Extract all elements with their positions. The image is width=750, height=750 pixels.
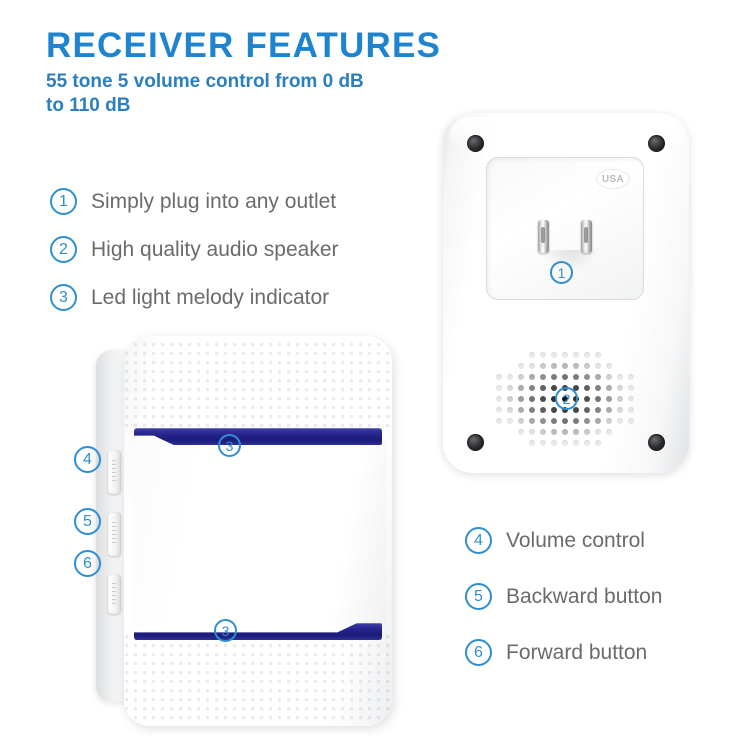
feature-list-top: 1 Simply plug into any outlet 2 High qua… <box>50 188 339 332</box>
speaker-grille-dot <box>551 429 557 435</box>
screw-hole-bottom-left <box>467 434 484 451</box>
speaker-grille-dot <box>540 440 546 446</box>
speaker-grille-dot <box>507 396 513 402</box>
speaker-grille-dot <box>507 418 513 424</box>
speaker-grille-dot <box>496 407 502 413</box>
speaker-grille-dot <box>518 407 524 413</box>
speaker-grille-dot <box>518 385 524 391</box>
feature-item-5: 5 Backward button <box>465 583 662 610</box>
speaker-grille-dot <box>518 396 524 402</box>
feature-item-6: 6 Forward button <box>465 639 662 666</box>
speaker-grille-dot <box>628 407 634 413</box>
speaker-grille-dot <box>562 352 568 358</box>
speaker-grille-dot <box>540 352 546 358</box>
speaker-grille-dot <box>540 429 546 435</box>
speaker-grille-dot <box>584 385 590 391</box>
speaker-grille-dot <box>529 385 535 391</box>
speaker-grille-dot <box>573 429 579 435</box>
led-light-bar-top <box>134 428 382 445</box>
speaker-grille-dot <box>595 396 601 402</box>
speaker-grille-dot <box>551 352 557 358</box>
speaker-grille-dot <box>518 418 524 424</box>
speaker-grille-dot <box>606 396 612 402</box>
speaker-grille-dot <box>573 363 579 369</box>
volume-control-button <box>108 450 121 494</box>
feature-item-4: 4 Volume control <box>465 527 662 554</box>
speaker-grille-dot <box>606 374 612 380</box>
feature-item-2: 2 High quality audio speaker <box>50 236 339 263</box>
speaker-grille-dot <box>573 352 579 358</box>
plug-in-receiver-photo: USA 1 2 <box>443 113 689 473</box>
speaker-grille-dot <box>595 363 601 369</box>
feature-item-3: 3 Led light melody indicator <box>50 284 339 311</box>
marker-number-4: 4 <box>465 527 492 554</box>
callout-marker-3-led-bottom: 3 <box>214 619 237 642</box>
speaker-grille-dot <box>606 418 612 424</box>
speaker-grille-dot <box>606 429 612 435</box>
speaker-grille-dot <box>562 429 568 435</box>
feature-label-1: Simply plug into any outlet <box>91 190 336 214</box>
speaker-grille-dot <box>496 385 502 391</box>
speaker-grille-dot <box>529 396 535 402</box>
feature-label-3: Led light melody indicator <box>91 286 329 310</box>
speaker-grille-dot <box>573 440 579 446</box>
speaker-grille: 2 <box>492 349 640 447</box>
speaker-grille-dot <box>595 407 601 413</box>
speaker-grille-dot <box>540 396 546 402</box>
callout-marker-5-backward: 5 <box>74 508 101 535</box>
speaker-grille-dot <box>617 385 623 391</box>
speaker-grille-dot <box>551 385 557 391</box>
speaker-grille-dot <box>595 440 601 446</box>
speaker-grille-dot <box>496 418 502 424</box>
speaker-grille-dot <box>518 374 524 380</box>
feature-label-6: Forward button <box>506 641 647 665</box>
speaker-grille-dot <box>507 374 513 380</box>
speaker-grille-dot <box>584 363 590 369</box>
speaker-grille-dot <box>562 363 568 369</box>
backward-button <box>108 512 121 556</box>
feature-label-5: Backward button <box>506 585 662 609</box>
speaker-grille-dot <box>584 440 590 446</box>
product-feature-infographic: RECEIVER FEATURES 55 tone 5 volume contr… <box>0 0 750 750</box>
marker-number-6: 6 <box>465 639 492 666</box>
marker-number-1: 1 <box>50 188 77 215</box>
speaker-grille-dot <box>551 374 557 380</box>
speaker-grille-dot <box>562 440 568 446</box>
speaker-grille-dot <box>584 407 590 413</box>
forward-button <box>108 574 121 614</box>
speaker-grille-dot <box>628 418 634 424</box>
callout-marker-6-forward: 6 <box>74 550 101 577</box>
speaker-grille-dot <box>496 374 502 380</box>
screw-hole-top-right <box>648 135 665 152</box>
feature-list-bottom: 4 Volume control 5 Backward button 6 For… <box>465 527 662 695</box>
screw-hole-top-left <box>467 135 484 152</box>
speaker-grille-dot <box>606 407 612 413</box>
speaker-grille-dot <box>628 374 634 380</box>
speaker-grille-dot <box>518 363 524 369</box>
speaker-grille-dot <box>595 418 601 424</box>
speaker-grille-dot <box>507 407 513 413</box>
speaker-grille-dot <box>496 396 502 402</box>
speaker-grille-dot <box>628 396 634 402</box>
speaker-grille-dot <box>551 407 557 413</box>
speaker-grille-dot <box>540 407 546 413</box>
speaker-grille-dot <box>529 440 535 446</box>
screw-hole-bottom-right <box>648 434 665 451</box>
callout-marker-2-speaker: 2 <box>555 387 578 410</box>
speaker-grille-dot <box>529 374 535 380</box>
speaker-grille-dot <box>595 385 601 391</box>
usa-badge: USA <box>596 169 630 189</box>
plug-prong-right <box>581 220 592 253</box>
callout-marker-3-led-top: 3 <box>218 434 241 457</box>
speaker-grille-dot <box>562 374 568 380</box>
callout-marker-4-volume: 4 <box>74 446 101 473</box>
feature-item-1: 1 Simply plug into any outlet <box>50 188 339 215</box>
callout-marker-1-plug: 1 <box>550 261 573 284</box>
speaker-grille-dot <box>617 407 623 413</box>
speaker-grille-dot <box>540 385 546 391</box>
speaker-grille-dot <box>595 352 601 358</box>
speaker-grille-dot <box>529 407 535 413</box>
speaker-grille-dot <box>540 418 546 424</box>
plug-prong-left <box>538 220 549 253</box>
perforation-texture-top <box>124 342 392 430</box>
speaker-grille-dot <box>617 374 623 380</box>
speaker-grille-dot <box>628 385 634 391</box>
feature-label-2: High quality audio speaker <box>91 238 339 262</box>
speaker-grille-dot <box>507 385 513 391</box>
speaker-grille-dot <box>573 418 579 424</box>
speaker-grille-dot <box>573 407 579 413</box>
chime-front-face <box>124 336 392 726</box>
speaker-grille-dot <box>551 440 557 446</box>
speaker-grille-dot <box>606 385 612 391</box>
speaker-grille-dot <box>617 418 623 424</box>
plug-face-panel: USA 1 <box>486 157 644 300</box>
chime-unit-photo: 3 3 <box>96 336 396 726</box>
speaker-grille-dot <box>617 396 623 402</box>
speaker-grille-dot <box>584 429 590 435</box>
speaker-grille-dot <box>562 418 568 424</box>
speaker-grille-dot <box>551 418 557 424</box>
speaker-grille-dot <box>518 429 524 435</box>
marker-number-2: 2 <box>50 236 77 263</box>
speaker-grille-dot <box>595 374 601 380</box>
marker-number-5: 5 <box>465 583 492 610</box>
speaker-grille-dot <box>595 429 601 435</box>
speaker-grille-dot <box>584 396 590 402</box>
feature-label-4: Volume control <box>506 529 645 553</box>
speaker-grille-dot <box>540 374 546 380</box>
speaker-grille-dot <box>540 363 546 369</box>
speaker-grille-dot <box>529 429 535 435</box>
speaker-grille-dot <box>529 418 535 424</box>
perforation-texture-bottom <box>124 634 392 722</box>
page-subtitle: 55 tone 5 volume control from 0 dB to 11… <box>46 70 386 119</box>
speaker-grille-dot <box>584 352 590 358</box>
speaker-grille-dot <box>584 418 590 424</box>
speaker-grille-dot <box>529 352 535 358</box>
speaker-grille-dot <box>584 374 590 380</box>
marker-number-3: 3 <box>50 284 77 311</box>
speaker-grille-dot <box>573 374 579 380</box>
speaker-grille-dot <box>606 363 612 369</box>
speaker-grille-dot <box>551 363 557 369</box>
page-title: RECEIVER FEATURES <box>46 26 441 66</box>
chime-center-panel <box>132 440 386 628</box>
speaker-grille-dot <box>529 363 535 369</box>
